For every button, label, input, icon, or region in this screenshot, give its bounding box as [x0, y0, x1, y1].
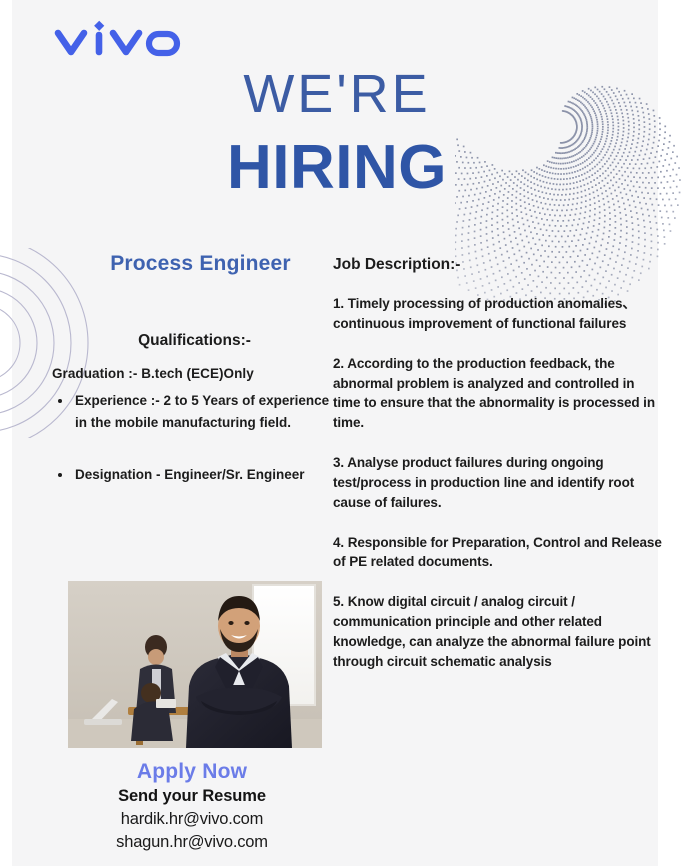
- send-resume-label: Send your Resume: [52, 787, 332, 806]
- apply-block: Apply Now Send your Resume hardik.hr@viv…: [52, 760, 332, 852]
- qualifications-column: Process Engineer Qualifications:- Gradua…: [52, 252, 337, 486]
- job-description-item: 4. Responsible for Preparation, Control …: [333, 533, 663, 573]
- job-description-column: Job Description:- 1. Timely processing o…: [333, 256, 663, 672]
- job-description-item: 1. Timely processing of production anoma…: [333, 294, 663, 334]
- job-description-item: 3. Analyse product failures during ongoi…: [333, 453, 663, 513]
- list-item: Experience :- 2 to 5 Years of experience…: [52, 390, 337, 434]
- apply-now-heading: Apply Now: [52, 760, 332, 784]
- contact-email[interactable]: hardik.hr@vivo.com: [52, 810, 332, 829]
- headline: WE'RE HIRING: [0, 66, 646, 202]
- graduation-requirement: Graduation :- B.tech (ECE)Only: [52, 366, 337, 381]
- contact-email[interactable]: shagun.hr@vivo.com: [52, 833, 332, 852]
- job-description-item: 5. Know digital circuit / analog circuit…: [333, 592, 663, 671]
- vivo-logo: [52, 16, 182, 62]
- office-team-photo: [68, 581, 322, 748]
- job-description-item: 2. According to the production feedback,…: [333, 354, 663, 433]
- headline-line-were: WE'RE: [28, 66, 646, 123]
- qualification-bullet-list: Experience :- 2 to 5 Years of experience…: [52, 390, 337, 486]
- job-title: Process Engineer: [64, 252, 337, 276]
- qualifications-heading: Qualifications:-: [52, 332, 337, 350]
- list-item: Designation - Engineer/Sr. Engineer: [52, 464, 337, 486]
- job-description-heading: Job Description:-: [333, 256, 663, 274]
- headline-line-hiring: HIRING: [28, 133, 646, 202]
- hiring-poster: WE'RE HIRING Process Engineer Qualificat…: [0, 0, 696, 866]
